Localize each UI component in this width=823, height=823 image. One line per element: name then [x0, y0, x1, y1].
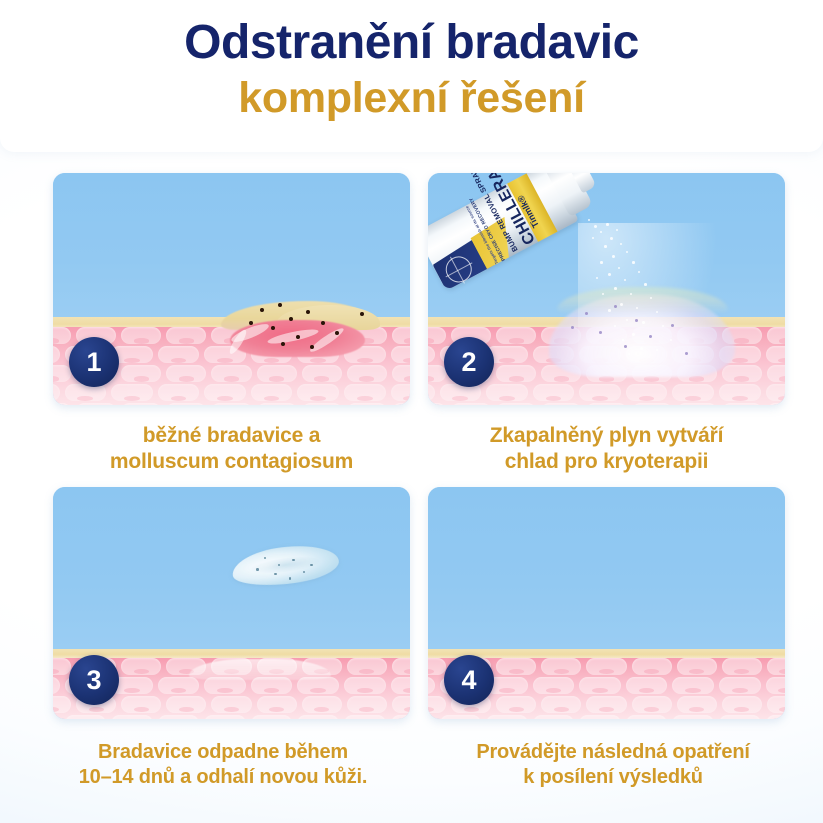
skin-cell [719, 715, 761, 719]
skin-cell [677, 403, 717, 405]
skin-cell [496, 365, 536, 382]
skin-cell [257, 696, 297, 713]
skin-cell [440, 715, 482, 719]
skin-cell [767, 696, 785, 713]
page-title: Odstranění bradavic [184, 16, 639, 70]
skin-cell [722, 403, 762, 405]
step-number-badge-1: 1 [69, 337, 119, 387]
skin-cell [392, 327, 410, 344]
skin-cell [391, 677, 411, 694]
skin-cell [76, 403, 116, 405]
skin-cell [533, 715, 575, 719]
skin-cell [211, 403, 251, 405]
skin-cell [541, 403, 581, 405]
step-panel-4: 4 [428, 487, 785, 719]
skin-cell [158, 677, 200, 694]
skin-cell [722, 696, 762, 713]
skin-cell-row [428, 384, 785, 401]
skin-cell [302, 403, 342, 405]
skin-cell [586, 658, 626, 675]
skin-cell [496, 403, 536, 405]
skin-cell [766, 384, 786, 401]
skin-cell [626, 715, 668, 719]
skin-cell [121, 327, 161, 344]
skin-cell [428, 677, 435, 694]
step-panel-2: Tinmlk® CHILLERASE BUMP REMOVAL SPRAY PR… [428, 173, 785, 405]
step-panel-3: 3 [53, 487, 410, 719]
skin-cell-row [53, 715, 410, 719]
skin-cell [428, 327, 446, 344]
skin-cell [166, 327, 206, 344]
skin-cell [166, 403, 206, 405]
step-number-badge-3: 3 [69, 655, 119, 705]
step-panel-1: 1 [53, 173, 410, 405]
skin-cell [541, 658, 581, 675]
skin-cell [428, 346, 435, 363]
skin-cell [53, 365, 71, 382]
skin-cell [451, 403, 491, 405]
caption-1-line-1: běžné bradavice a [143, 423, 321, 449]
skin-cell [65, 384, 107, 401]
skin-cell [533, 384, 575, 401]
skin-cell [496, 327, 536, 344]
skin-cell [302, 696, 342, 713]
caption-4-line-2: k posílení výsledků [523, 765, 703, 790]
skin-cell [111, 715, 153, 719]
skin-cell [632, 658, 672, 675]
skin-cell [579, 384, 621, 401]
skin-cell [486, 384, 528, 401]
skin-cell [766, 346, 786, 363]
skin-cell [428, 365, 446, 382]
skin-cell-row [428, 715, 785, 719]
skin-cell [53, 403, 71, 405]
skin-cell [347, 365, 387, 382]
skin-cell [428, 403, 446, 405]
skin-cell [347, 403, 387, 405]
skin-cell [677, 696, 717, 713]
skin-cell [121, 365, 161, 382]
skin-cell [158, 346, 200, 363]
infographic-page: Odstranění bradavic komplexní řešení [0, 0, 823, 823]
skin-cell [392, 658, 410, 675]
skin-cell [392, 365, 410, 382]
skin-cell [166, 365, 206, 382]
skin-cell-row [428, 403, 785, 405]
skin-cell [53, 327, 71, 344]
caption-3-line-2: 10–14 dnů a odhalí novou kůži. [79, 765, 368, 790]
skin-cell [344, 715, 386, 719]
skin-cell [722, 658, 762, 675]
step-caption-4: Provádějte následná opatření k posílení … [418, 719, 808, 801]
skin-cell [579, 715, 621, 719]
skin-cell [428, 696, 446, 713]
skin-cell [541, 696, 581, 713]
step-number-badge-4: 4 [444, 655, 494, 705]
skin-cell [121, 658, 161, 675]
header-banner: Odstranění bradavic komplexní řešení [0, 0, 823, 152]
skin-cell [486, 715, 528, 719]
skin-cell [428, 658, 446, 675]
skin-cell [677, 658, 717, 675]
skin-cell [719, 384, 761, 401]
skin-cell [392, 403, 410, 405]
skin-cell [391, 715, 411, 719]
skin-cell [391, 346, 411, 363]
skin-cell [440, 384, 482, 401]
page-subtitle: komplexní řešení [238, 74, 585, 123]
step-caption-1: běžné bradavice a molluscum contagiosum [53, 405, 410, 487]
skin-cell [204, 715, 246, 719]
skin-cell [579, 677, 621, 694]
skin-cell [586, 696, 626, 713]
wart-lesion-icon [221, 301, 375, 361]
new-skin-regrowth [189, 659, 332, 680]
step-caption-2: Zkapalněný plyn vytváří chlad pro kryote… [428, 405, 785, 487]
background-sky [53, 487, 410, 649]
skin-cell [626, 677, 668, 694]
skin-cell [297, 384, 339, 401]
skin-cell [211, 696, 251, 713]
skin-cell [53, 346, 60, 363]
step-caption-3: Bradavice odpadne během 10–14 dnů a odha… [23, 719, 423, 801]
skin-cell [672, 677, 714, 694]
skin-cell [53, 658, 71, 675]
skin-cell [496, 658, 536, 675]
skin-cell [53, 715, 60, 719]
skin-cell [392, 696, 410, 713]
skin-cell [121, 696, 161, 713]
skin-cell [166, 696, 206, 713]
skin-cell [626, 384, 668, 401]
skin-cell [719, 677, 761, 694]
skin-cell [344, 677, 386, 694]
skin-cell [53, 384, 60, 401]
skin-cell [428, 384, 435, 401]
skin-cell [767, 365, 785, 382]
skin-cell [672, 715, 714, 719]
skin-cell [533, 677, 575, 694]
skin-cell [111, 384, 153, 401]
skin-cell [496, 696, 536, 713]
skin-cell [632, 403, 672, 405]
skin-cell [158, 384, 200, 401]
skin-cell [204, 384, 246, 401]
caption-2-line-2: chlad pro kryoterapii [505, 449, 709, 475]
skin-cell [347, 696, 387, 713]
skin-cell [257, 403, 297, 405]
skin-cell [722, 365, 762, 382]
skin-cell [302, 365, 342, 382]
caption-1-line-2: molluscum contagiosum [110, 449, 353, 475]
skin-cell [251, 715, 293, 719]
caption-4-line-1: Provádějte následná opatření [476, 740, 749, 765]
skin-cell [767, 403, 785, 405]
skin-cell [121, 403, 161, 405]
skin-cell [586, 403, 626, 405]
skin-cell [347, 658, 387, 675]
caption-2-line-1: Zkapalněný plyn vytváří [490, 423, 724, 449]
skin-cell [344, 384, 386, 401]
skin-cell [53, 696, 71, 713]
skin-cell [766, 677, 786, 694]
background-sky [428, 487, 785, 649]
skin-cell-row [53, 384, 410, 401]
skin-cell [767, 327, 785, 344]
skin-cell [672, 384, 714, 401]
skin-cell [211, 365, 251, 382]
background-sky [53, 173, 410, 317]
skin-cell [767, 658, 785, 675]
skin-cell [158, 715, 200, 719]
caption-3-line-1: Bradavice odpadne během [98, 740, 348, 765]
step-number-badge-2: 2 [444, 337, 494, 387]
skin-cell [391, 384, 411, 401]
skin-cell [297, 715, 339, 719]
skin-cell-row [53, 403, 410, 405]
skin-cell [632, 696, 672, 713]
skin-cell [428, 715, 435, 719]
skin-cell [251, 384, 293, 401]
skin-cell [257, 365, 297, 382]
skin-cell [53, 677, 60, 694]
skin-cell [766, 715, 786, 719]
skin-cell [65, 715, 107, 719]
steps-grid: 1 [53, 173, 785, 801]
